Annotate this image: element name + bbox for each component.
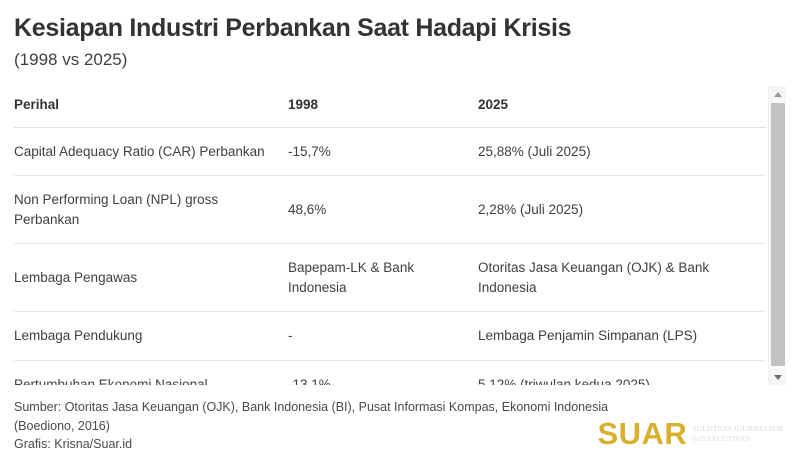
column-header-1998: 1998 — [288, 86, 478, 127]
chevron-up-icon — [774, 92, 782, 97]
table-row: Pertumbuhan Ekonomi Nasional -13,1% 5,12… — [14, 360, 766, 385]
column-header-perihal: Perihal — [14, 86, 288, 127]
cell-2025: Otoritas Jasa Keuangan (OJK) & Bank Indo… — [478, 244, 766, 312]
vertical-scrollbar[interactable] — [768, 86, 785, 385]
table-header-row: Perihal 1998 2025 — [14, 86, 766, 127]
credit-text: Grafis: Krisna/Suar.id — [14, 435, 614, 454]
cell-1998: 48,6% — [288, 176, 478, 244]
cell-2025: 2,28% (Juli 2025) — [478, 176, 766, 244]
table-row: Non Performing Loan (NPL) gross Perbanka… — [14, 176, 766, 244]
header: Kesiapan Industri Perbankan Saat Hadapi … — [0, 0, 795, 70]
table-row: Capital Adequacy Ratio (CAR) Perbankan -… — [14, 127, 766, 176]
page-title: Kesiapan Industri Perbankan Saat Hadapi … — [14, 14, 781, 43]
infographic-root: Kesiapan Industri Perbankan Saat Hadapi … — [0, 0, 795, 466]
cell-perihal: Lembaga Pendukung — [14, 312, 288, 361]
source-text: Sumber: Otoritas Jasa Keuangan (OJK), Ba… — [14, 398, 614, 435]
logo-tagline-line2: EXECUTIVES — [702, 434, 750, 443]
cell-1998: Bapepam-LK & Bank Indonesia — [288, 244, 478, 312]
chevron-down-icon — [774, 375, 782, 380]
footer: Sumber: Otoritas Jasa Keuangan (OJK), Ba… — [14, 398, 614, 454]
page-subtitle: (1998 vs 2025) — [14, 50, 781, 70]
logo-tagline: SOLUTION JOURNALISM forEXECUTIVES — [692, 424, 783, 448]
table-scroll-content: Perihal 1998 2025 Capital Adequacy Ratio… — [0, 86, 766, 385]
cell-perihal: Pertumbuhan Ekonomi Nasional — [14, 360, 288, 385]
scroll-up-button[interactable] — [769, 86, 786, 102]
suar-logo: SUAR SOLUTION JOURNALISM forEXECUTIVES — [597, 419, 783, 448]
column-header-2025: 2025 — [478, 86, 766, 127]
table-body: Capital Adequacy Ratio (CAR) Perbankan -… — [14, 127, 766, 385]
cell-perihal: Capital Adequacy Ratio (CAR) Perbankan — [14, 127, 288, 176]
cell-1998: -15,7% — [288, 127, 478, 176]
comparison-table: Perihal 1998 2025 Capital Adequacy Ratio… — [14, 86, 766, 385]
cell-perihal: Non Performing Loan (NPL) gross Perbanka… — [14, 176, 288, 244]
cell-perihal: Lembaga Pengawas — [14, 244, 288, 312]
cell-1998: -13,1% — [288, 360, 478, 385]
table-row: Lembaga Pengawas Bapepam-LK & Bank Indon… — [14, 244, 766, 312]
cell-2025: 5,12% (triwulan kedua 2025) — [478, 360, 766, 385]
table-scroll-viewport[interactable]: Perihal 1998 2025 Capital Adequacy Ratio… — [0, 86, 795, 385]
logo-tagline-line2-wrap: forEXECUTIVES — [692, 434, 783, 444]
cell-2025: Lembaga Penjamin Simpanan (LPS) — [478, 312, 766, 361]
table-row: Lembaga Pendukung - Lembaga Penjamin Sim… — [14, 312, 766, 361]
logo-tagline-for: for — [692, 434, 701, 443]
logo-wordmark: SUAR — [597, 419, 687, 448]
cell-1998: - — [288, 312, 478, 361]
cell-2025: 25,88% (Juli 2025) — [478, 127, 766, 176]
scroll-down-button[interactable] — [769, 369, 786, 385]
scrollbar-thumb[interactable] — [771, 103, 785, 366]
table-header: Perihal 1998 2025 — [14, 86, 766, 127]
logo-tagline-line1: SOLUTION JOURNALISM — [692, 424, 783, 434]
